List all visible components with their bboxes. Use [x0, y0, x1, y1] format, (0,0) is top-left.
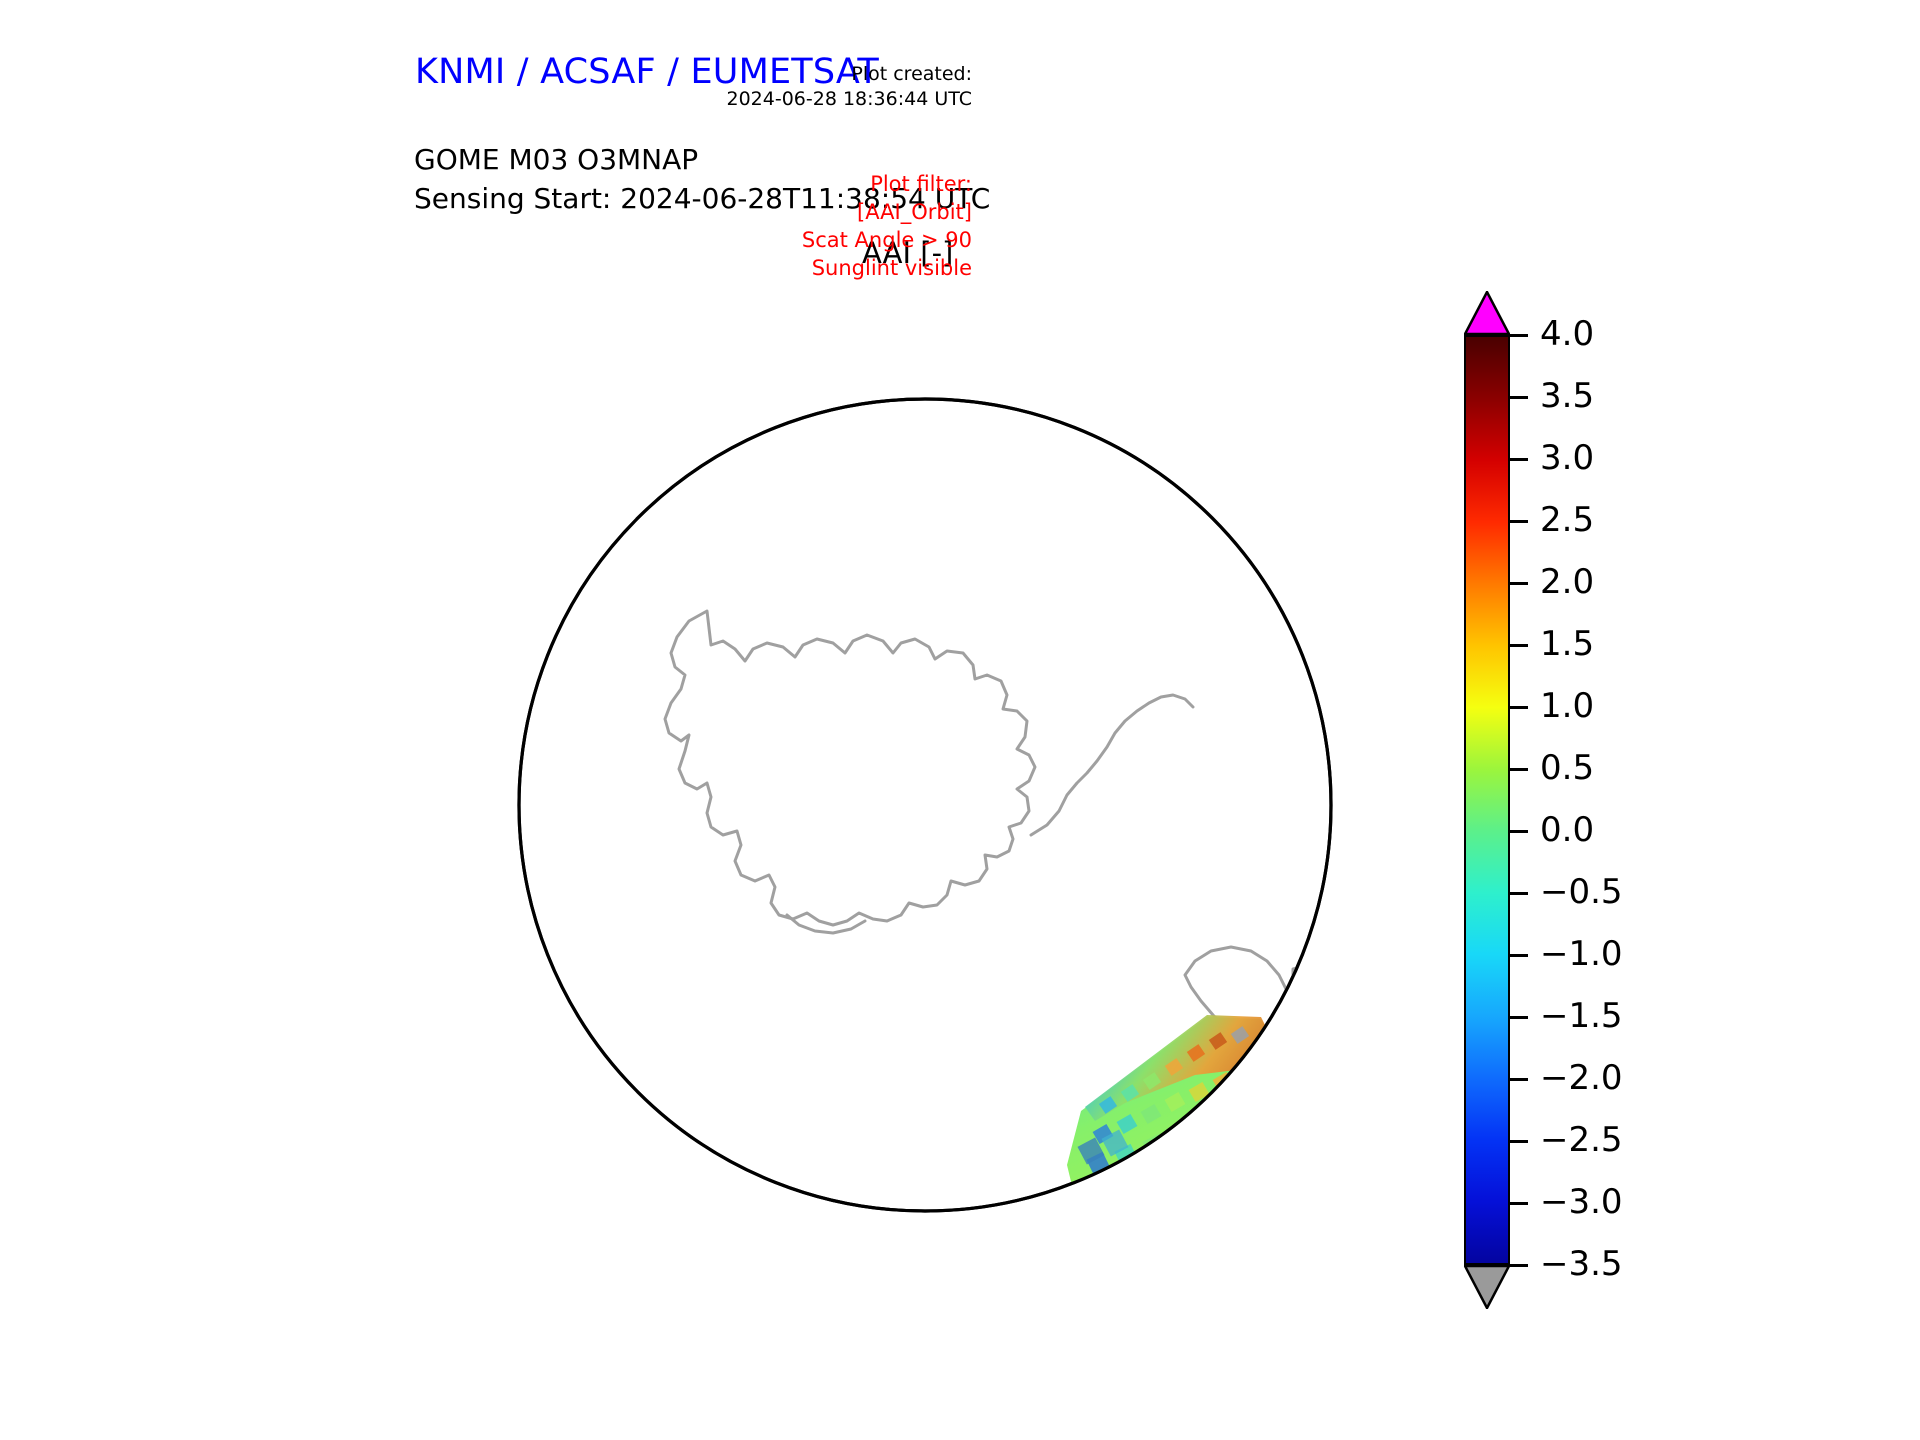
- colorbar-tick-mark: [1510, 1078, 1528, 1081]
- colorbar-tick-mark: [1510, 892, 1528, 895]
- plot-filter-line-1: [AAI_Orbit]: [802, 198, 972, 226]
- map-panel: [395, 275, 1455, 1335]
- colorbar-tick-label: −3.0: [1540, 1185, 1623, 1219]
- plot-page: KNMI / ACSAF / EUMETSAT Plot created: 20…: [0, 0, 1920, 1440]
- colorbar-ticks: 4.03.53.02.52.01.51.00.50.0−0.5−1.0−1.5−…: [1510, 335, 1780, 1265]
- colorbar-over-arrow: [1464, 291, 1510, 335]
- colorbar-tick-mark: [1510, 458, 1528, 461]
- plot-filter-line-2: Scat Angle > 90: [802, 226, 972, 254]
- colorbar-tick-label: 1.5: [1540, 627, 1594, 661]
- colorbar-tick-mark: [1510, 768, 1528, 771]
- colorbar-gradient: [1464, 335, 1510, 1265]
- colorbar: 4.03.53.02.52.01.51.00.50.0−0.5−1.0−1.5−…: [1452, 285, 1782, 1315]
- colorbar-tick-label: 0.5: [1540, 751, 1594, 785]
- colorbar-tick-mark: [1510, 396, 1528, 399]
- colorbar-tick-label: −2.0: [1540, 1061, 1623, 1095]
- plot-filter-title: Plot filter:: [802, 170, 972, 198]
- coastline-south-america: [707, 275, 769, 399]
- plot-created-label: Plot created:: [727, 62, 973, 87]
- colorbar-tick-mark: [1510, 1264, 1528, 1267]
- colorbar-tick-mark: [1510, 1202, 1528, 1205]
- colorbar-tick-label: −1.0: [1540, 937, 1623, 971]
- colorbar-tick-label: −2.5: [1540, 1123, 1623, 1157]
- colorbar-tick-label: −1.5: [1540, 999, 1623, 1033]
- colorbar-tick-label: 2.5: [1540, 503, 1594, 537]
- colorbar-tick-label: 0.0: [1540, 813, 1594, 847]
- colorbar-under-arrow: [1464, 1265, 1510, 1309]
- colorbar-tick-label: 1.0: [1540, 689, 1594, 723]
- plot-filter-block: Plot filter: [AAI_Orbit] Scat Angle > 90…: [802, 170, 972, 282]
- coastline-island-3: [447, 795, 465, 813]
- colorbar-tick-mark: [1510, 954, 1528, 957]
- colorbar-tick-mark: [1510, 520, 1528, 523]
- colorbar-tick-mark: [1510, 706, 1528, 709]
- colorbar-tick-mark: [1510, 334, 1528, 337]
- colorbar-tick-label: −3.5: [1540, 1247, 1623, 1281]
- plot-created-block: Plot created: 2024-06-28 18:36:44 UTC: [727, 62, 973, 112]
- colorbar-tick-mark: [1510, 644, 1528, 647]
- coastline-island-2: [563, 325, 581, 341]
- colorbar-tick-label: 3.5: [1540, 379, 1594, 413]
- colorbar-tick-mark: [1510, 582, 1528, 585]
- colorbar-tick-mark: [1510, 830, 1528, 833]
- colorbar-tick-label: 3.0: [1540, 441, 1594, 475]
- coastline-island-4: [1293, 965, 1335, 999]
- colorbar-tick-mark: [1510, 1016, 1528, 1019]
- colorbar-tick-label: −0.5: [1540, 875, 1623, 909]
- colorbar-tick-label: 2.0: [1540, 565, 1594, 599]
- plot-created-value: 2024-06-28 18:36:44 UTC: [727, 87, 973, 112]
- colorbar-tick-label: 4.0: [1540, 317, 1594, 351]
- antarctica-map: [395, 275, 1455, 1335]
- colorbar-tick-mark: [1510, 1140, 1528, 1143]
- coastline-island-1: [589, 365, 617, 391]
